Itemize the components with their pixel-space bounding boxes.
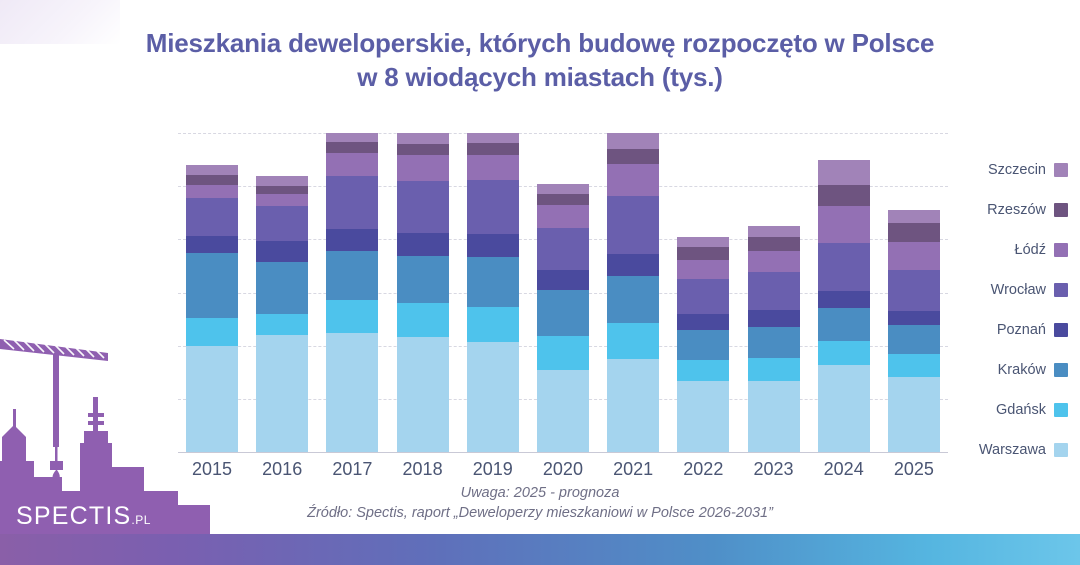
x-axis-label-2018: 2018 [397,456,449,482]
bar-segment-2018-wrocław[interactable] [397,181,449,233]
bar-segment-2024-poznań[interactable] [818,291,870,308]
bar-segment-2016-wrocław[interactable] [256,206,308,241]
bar-segment-2016-kraków[interactable] [256,262,308,314]
legend-swatch-icon [1054,403,1068,417]
legend-label: Gdańsk [996,402,1046,418]
bar-segment-2023-poznań[interactable] [748,310,800,327]
bar-segment-2016-rzeszów[interactable] [256,186,308,194]
legend-swatch-icon [1054,323,1068,337]
bar-segment-2017-poznań[interactable] [326,229,378,251]
bar-segment-2016-szczecin[interactable] [256,176,308,186]
legend-item-łódź[interactable]: Łódź [948,230,1068,270]
bar-segment-2023-rzeszów[interactable] [748,237,800,250]
bar-segment-2018-kraków[interactable] [397,256,449,304]
bar-segment-2015-łódź[interactable] [186,185,238,199]
bar-segment-2025-gdańsk[interactable] [888,354,940,376]
bar-segment-2018-łódź[interactable] [397,155,449,180]
bar-segment-2017-kraków[interactable] [326,251,378,300]
bar-segment-2016-poznań[interactable] [256,241,308,261]
bar-segment-2025-wrocław[interactable] [888,270,940,310]
bar-segment-2025-rzeszów[interactable] [888,223,940,241]
legend-item-poznań[interactable]: Poznań [948,310,1068,350]
legend-label: Rzeszów [987,202,1046,218]
bar-segment-2025-łódź[interactable] [888,242,940,271]
bar-2019[interactable] [467,133,519,452]
bar-2024[interactable] [818,133,870,452]
bar-group [186,133,940,452]
bar-segment-2015-rzeszów[interactable] [186,175,238,185]
bar-segment-2019-rzeszów[interactable] [467,143,519,155]
legend-label: Kraków [998,362,1046,378]
bar-2021[interactable] [607,133,659,452]
x-axis-label-2021: 2021 [607,456,659,482]
bar-segment-2020-wrocław[interactable] [537,228,589,271]
bar-2022[interactable] [677,133,729,452]
legend-item-gdańsk[interactable]: Gdańsk [948,390,1068,430]
legend-swatch-icon [1054,203,1068,217]
bar-segment-2019-poznań[interactable] [467,234,519,257]
bar-segment-2016-łódź[interactable] [256,194,308,207]
bar-segment-2018-rzeszów[interactable] [397,144,449,156]
bar-segment-2023-kraków[interactable] [748,327,800,359]
bar-segment-2019-łódź[interactable] [467,155,519,181]
bar-segment-2022-poznań[interactable] [677,314,729,330]
legend-swatch-icon [1054,243,1068,257]
bar-segment-2024-łódź[interactable] [818,206,870,243]
bar-segment-2020-szczecin[interactable] [537,184,589,195]
bar-segment-2017-gdańsk[interactable] [326,300,378,333]
bar-segment-2019-kraków[interactable] [467,257,519,308]
bar-segment-2021-kraków[interactable] [607,276,659,324]
bar-segment-2024-kraków[interactable] [818,308,870,341]
brand-name: SPECTIS [16,502,131,530]
bar-segment-2023-gdańsk[interactable] [748,358,800,381]
bar-segment-2023-wrocław[interactable] [748,272,800,309]
bar-segment-2020-łódź[interactable] [537,205,589,227]
bar-segment-2017-szczecin[interactable] [326,133,378,142]
bar-segment-2015-poznań[interactable] [186,236,238,253]
legend-swatch-icon [1054,363,1068,377]
bar-segment-2021-łódź[interactable] [607,164,659,196]
x-axis-label-2019: 2019 [467,456,519,482]
bar-segment-2020-rzeszów[interactable] [537,194,589,205]
bar-segment-2019-gdańsk[interactable] [467,307,519,341]
plot-area: 0102030405060 [186,133,940,452]
bar-segment-2024-rzeszów[interactable] [818,185,870,206]
bar-segment-2021-wrocław[interactable] [607,196,659,254]
bar-segment-2020-poznań[interactable] [537,270,589,290]
legend-label: Wrocław [991,282,1046,298]
bar-segment-2022-warszawa[interactable] [677,381,729,452]
bar-segment-2017-wrocław[interactable] [326,176,378,228]
bar-segment-2017-łódź[interactable] [326,153,378,176]
x-axis-labels: 2015201620172018201920202021202220232024… [186,456,940,482]
bar-segment-2024-gdańsk[interactable] [818,341,870,365]
x-axis-label-2020: 2020 [537,456,589,482]
bar-segment-2023-szczecin[interactable] [748,226,800,237]
bar-segment-2024-szczecin[interactable] [818,160,870,185]
x-axis-label-2022: 2022 [677,456,729,482]
legend-item-szczecin[interactable]: Szczecin [948,150,1068,190]
x-axis-label-2025: 2025 [888,456,940,482]
legend-swatch-icon [1054,163,1068,177]
bar-2023[interactable] [748,133,800,452]
bar-segment-2022-szczecin[interactable] [677,237,729,248]
bar-2025[interactable] [888,133,940,452]
x-axis-label-2017: 2017 [326,456,378,482]
bar-2020[interactable] [537,133,589,452]
bar-segment-2024-wrocław[interactable] [818,243,870,291]
crane-hook-block-icon [50,461,63,470]
bar-segment-2016-gdańsk[interactable] [256,314,308,335]
bar-segment-2021-poznań[interactable] [607,254,659,276]
legend-item-wrocław[interactable]: Wrocław [948,270,1068,310]
bar-segment-2024-warszawa[interactable] [818,365,870,452]
bar-segment-2022-gdańsk[interactable] [677,360,729,381]
bar-segment-2022-łódź[interactable] [677,260,729,279]
bar-segment-2015-szczecin[interactable] [186,165,238,175]
bar-segment-2025-warszawa[interactable] [888,377,940,452]
bar-segment-2025-poznań[interactable] [888,311,940,325]
legend-label: Szczecin [988,162,1046,178]
x-axis-label-2023: 2023 [748,456,800,482]
crane-cable-icon [55,429,58,463]
legend-item-warszawa[interactable]: Warszawa [948,430,1068,470]
bar-2018[interactable] [397,133,449,452]
city-skyline-illustration [0,309,210,534]
bar-segment-2020-gdańsk[interactable] [537,336,589,370]
bar-segment-2023-łódź[interactable] [748,251,800,273]
bar-segment-2019-wrocław[interactable] [467,180,519,234]
bar-2017[interactable] [326,133,378,452]
brand-suffix: .PL [131,513,151,527]
bar-segment-2022-kraków[interactable] [677,330,729,360]
bar-2016[interactable] [256,133,308,452]
bar-segment-2019-szczecin[interactable] [467,133,519,143]
bar-segment-2017-rzeszów[interactable] [326,142,378,153]
bar-segment-2025-kraków[interactable] [888,325,940,354]
bar-segment-2023-warszawa[interactable] [748,381,800,452]
bar-segment-2018-warszawa[interactable] [397,337,449,452]
bar-segment-2020-kraków[interactable] [537,290,589,336]
bar-segment-2021-rzeszów[interactable] [607,149,659,164]
bar-segment-2022-rzeszów[interactable] [677,247,729,259]
bar-segment-2022-wrocław[interactable] [677,279,729,314]
bar-segment-2016-warszawa[interactable] [256,335,308,452]
bar-segment-2025-szczecin[interactable] [888,210,940,223]
legend-label: Łódź [1015,242,1046,258]
bar-segment-2018-gdańsk[interactable] [397,303,449,336]
bar-segment-2021-warszawa[interactable] [607,359,659,452]
legend-item-rzeszów[interactable]: Rzeszów [948,190,1068,230]
axis-baseline [178,452,948,453]
x-axis-label-2016: 2016 [256,456,308,482]
bar-segment-2020-warszawa[interactable] [537,370,589,452]
bar-segment-2017-warszawa[interactable] [326,333,378,452]
bottom-gradient-bar [0,534,1080,565]
bar-segment-2021-gdańsk[interactable] [607,323,659,359]
bar-segment-2019-warszawa[interactable] [467,342,519,452]
x-axis-label-2024: 2024 [818,456,870,482]
bar-segment-2015-wrocław[interactable] [186,198,238,236]
legend-item-kraków[interactable]: Kraków [948,350,1068,390]
legend-swatch-icon [1054,283,1068,297]
bar-segment-2018-poznań[interactable] [397,233,449,256]
brand-logo: SPECTIS.PL [16,502,151,531]
chart-legend: SzczecinRzeszówŁódźWrocławPoznańKrakówGd… [948,150,1068,470]
bar-segment-2021-szczecin[interactable] [607,133,659,149]
legend-swatch-icon [1054,443,1068,457]
legend-label: Poznań [997,322,1046,338]
legend-label: Warszawa [979,442,1046,458]
bar-segment-2018-szczecin[interactable] [397,133,449,144]
